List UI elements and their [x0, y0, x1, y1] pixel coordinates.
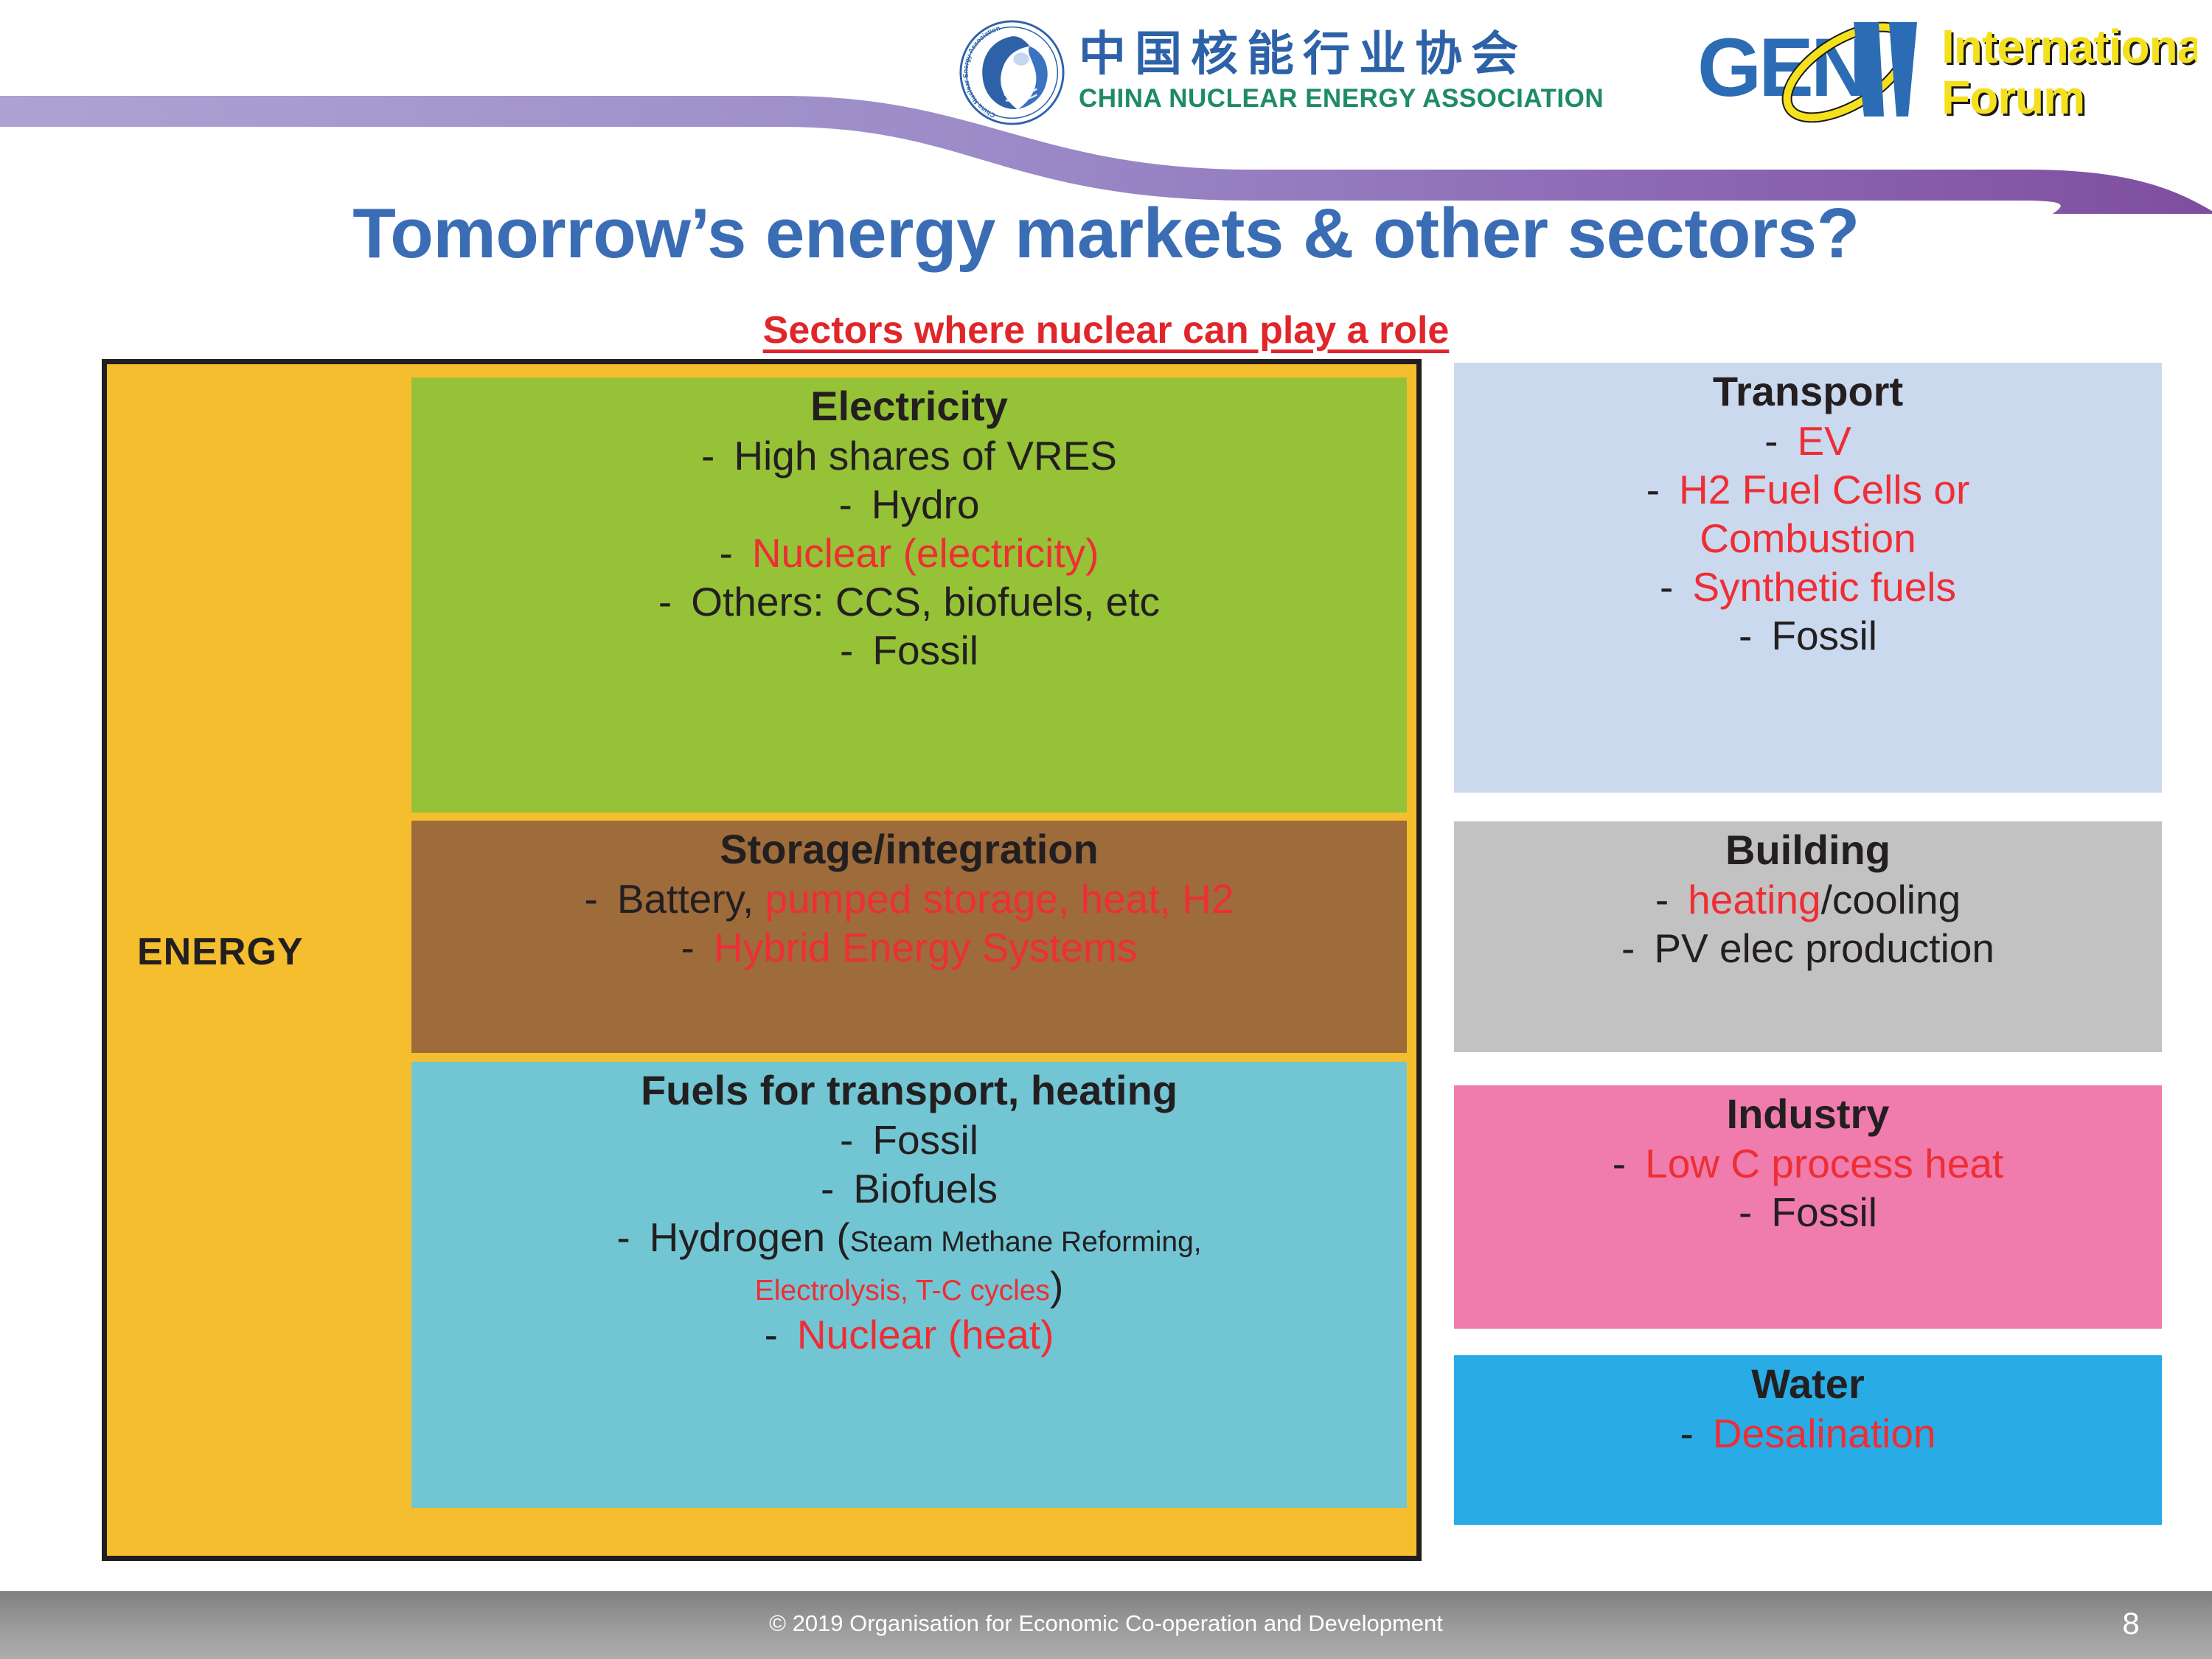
bullet-dash-icon: - [658, 577, 672, 626]
bullet-text: ) [1050, 1263, 1063, 1309]
page-title: Tomorrow’s energy markets & other sector… [0, 193, 2212, 274]
sector-electricity-bullet: -Others: CCS, biofuels, etc [425, 577, 1394, 626]
cnea-english-name: CHINA NUCLEAR ENERGY ASSOCIATION [1079, 83, 1604, 114]
bullet-dash-icon: - [584, 874, 597, 923]
sector-electricity-bullet: -High shares of VRES [425, 431, 1394, 480]
bullet-dash-icon: - [840, 1116, 853, 1164]
bullet-text: Synthetic fuels [1692, 564, 1956, 610]
bullet-text: heating [1688, 877, 1820, 922]
page-number: 8 [2087, 1606, 2175, 1641]
sector-fuels-bullet: -Biofuels [425, 1164, 1394, 1213]
sector-storage-bullet: -Hybrid Energy Systems [425, 923, 1394, 972]
bullet-text: Nuclear (electricity) [752, 530, 1099, 576]
sector-box-fuels: Fuels for transport, heating-Fossil-Biof… [411, 1062, 1407, 1508]
sector-box-transport: Transport-EV-H2 Fuel Cells orCombustion-… [1454, 363, 2162, 793]
bullet-dash-icon: - [1739, 611, 1752, 660]
bullet-text: Fossil [1771, 1189, 1877, 1235]
sector-fuels-bullet: -Hydrogen (Steam Methane Reforming, [425, 1213, 1394, 1262]
sector-building-bullet: -PV elec production [1464, 924, 2152, 973]
sector-box-building: Building-heating/cooling-PV elec product… [1454, 821, 2162, 1052]
sector-electricity-bullet: -Nuclear (electricity) [425, 529, 1394, 577]
bullet-text: High shares of VRES [734, 433, 1117, 479]
bullet-text: Hydro [872, 481, 980, 527]
bullet-text: Hydrogen ( [650, 1214, 850, 1260]
bullet-text: EV [1797, 418, 1851, 464]
bullet-dash-icon: - [1655, 875, 1669, 924]
cnea-chinese-name: 中国核能行业协会 [1079, 30, 1604, 80]
sector-transport-bullet: -Fossil [1464, 611, 2152, 660]
sector-storage-bullet: -Battery, pumped storage, heat, H2 [425, 874, 1394, 923]
sector-transport-title: Transport [1464, 369, 2152, 415]
sector-fuels-bullet: -Fossil [425, 1116, 1394, 1164]
svg-text:Forum: Forum [1941, 71, 2084, 124]
gen-iv-international-forum-logo: GEN International International Forum Fo… [1696, 7, 2197, 136]
bullet-dash-icon: - [1660, 563, 1673, 611]
copyright-text: © 2019 Organisation for Economic Co-oper… [0, 1610, 2212, 1637]
sector-box-industry: Industry-Low C process heat-Fossil [1454, 1085, 2162, 1329]
bullet-dash-icon: - [1680, 1409, 1693, 1458]
sector-water-bullet: -Desalination [1464, 1409, 2152, 1458]
sector-box-storage: Storage/integration-Battery, pumped stor… [411, 821, 1407, 1053]
bullet-dash-icon: - [1646, 465, 1660, 514]
page-subtitle: Sectors where nuclear can play a role [0, 308, 2212, 352]
bullet-dash-icon: - [720, 529, 733, 577]
slide-header: China Nuclear Energy Association 中国核能行业协… [0, 0, 2212, 170]
bullet-dash-icon: - [616, 1213, 630, 1262]
bullet-text: Battery, [617, 876, 765, 922]
bullet-dash-icon: - [840, 626, 853, 675]
bullet-text: Nuclear (heat) [797, 1312, 1054, 1357]
page-subtitle-text: Sectors where nuclear can play a role [763, 309, 1450, 352]
bullet-dash-icon: - [1739, 1188, 1752, 1237]
sector-fuels-title: Fuels for transport, heating [425, 1068, 1394, 1114]
bullet-text: Others: CCS, biofuels, etc [691, 579, 1160, 625]
bullet-text: H2 Fuel Cells or [1679, 467, 1969, 512]
svg-text:International: International [1941, 20, 2197, 73]
bullet-text: Electrolysis, T-C cycles [755, 1275, 1050, 1307]
bullet-dash-icon: - [681, 923, 695, 972]
sector-box-water: Water-Desalination [1454, 1355, 2162, 1525]
sector-transport-bullet: -Synthetic fuels [1464, 563, 2152, 611]
bullet-text: /cooling [1821, 877, 1961, 922]
sector-industry-title: Industry [1464, 1091, 2152, 1138]
sector-building-bullet: -heating/cooling [1464, 875, 2152, 924]
bullet-dash-icon: - [1764, 417, 1778, 465]
sector-storage-title: Storage/integration [425, 827, 1394, 873]
sector-industry-bullet: -Fossil [1464, 1188, 2152, 1237]
energy-panel-label: ENERGY [137, 930, 403, 974]
bullet-text: Fossil [1771, 613, 1877, 658]
sector-industry-bullet: -Low C process heat [1464, 1139, 2152, 1188]
sector-water-title: Water [1464, 1361, 2152, 1408]
sector-transport-bullet: -H2 Fuel Cells or [1464, 465, 2152, 514]
bullet-text: Low C process heat [1645, 1141, 2003, 1186]
bullet-text: Steam Methane Reforming, [850, 1226, 1202, 1258]
bullet-text: Fossil [872, 627, 978, 673]
cnea-logo: China Nuclear Energy Association 中国核能行业协… [959, 13, 1622, 131]
sector-building-title: Building [1464, 827, 2152, 874]
bullet-dash-icon: - [1621, 924, 1635, 973]
bullet-text: Hybrid Energy Systems [714, 925, 1138, 970]
sector-box-electricity: Electricity-High shares of VRES-Hydro-Nu… [411, 378, 1407, 813]
sector-transport-bullet: Combustion [1464, 514, 2152, 563]
bullet-text: Fossil [872, 1117, 978, 1163]
sector-fuels-bullet: -Nuclear (heat) [425, 1310, 1394, 1359]
cnea-bird-emblem-icon: China Nuclear Energy Association [959, 19, 1065, 126]
bullet-text: Biofuels [853, 1166, 998, 1211]
bullet-text: Desalination [1713, 1411, 1936, 1456]
sector-transport-bullet: -EV [1464, 417, 2152, 465]
sector-electricity-bullet: -Hydro [425, 480, 1394, 529]
bullet-dash-icon: - [838, 480, 852, 529]
sector-electricity-title: Electricity [425, 383, 1394, 430]
bullet-dash-icon: - [821, 1164, 834, 1213]
bullet-dash-icon: - [1613, 1139, 1626, 1188]
bullet-dash-icon: - [765, 1310, 778, 1359]
bullet-dash-icon: - [701, 431, 714, 480]
bullet-text: Combustion [1700, 515, 1916, 561]
sector-fuels-bullet: Electrolysis, T-C cycles) [425, 1262, 1394, 1310]
bullet-text: pumped storage, heat, H2 [765, 876, 1234, 922]
sector-electricity-bullet: -Fossil [425, 626, 1394, 675]
bullet-text: PV elec production [1654, 925, 1994, 971]
